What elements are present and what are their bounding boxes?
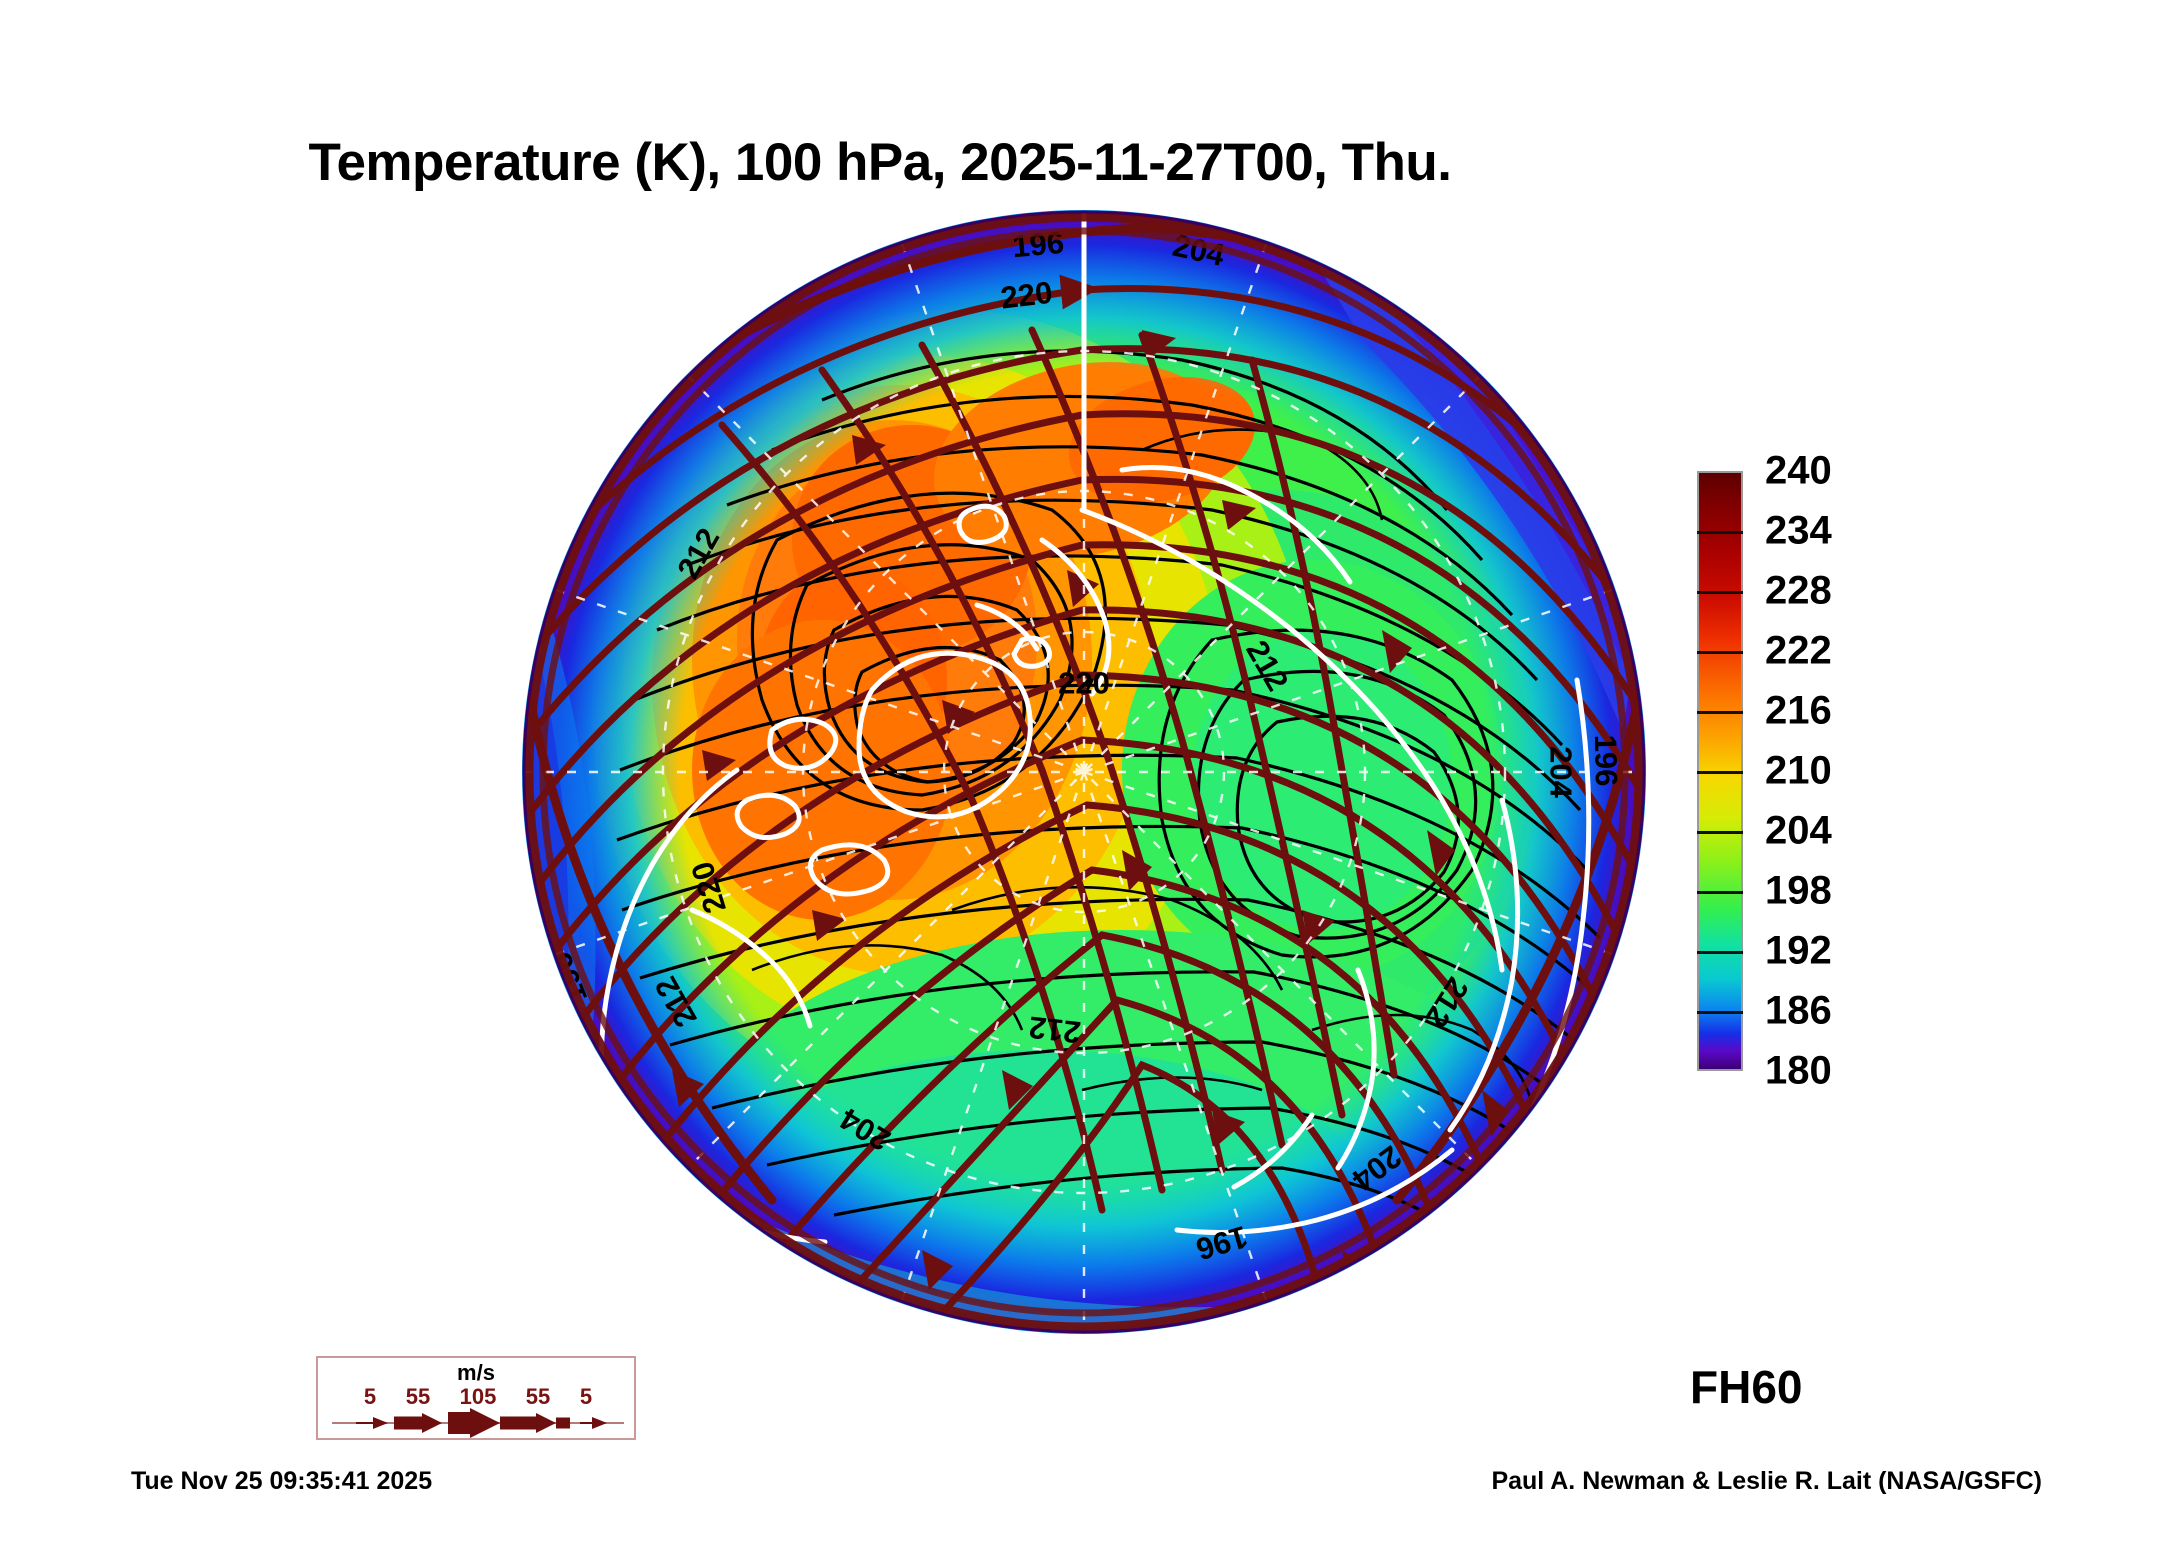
forecast-hour-label: FH60	[1690, 1360, 1802, 1414]
colorbar-tick	[1697, 771, 1743, 774]
colorbar-tick-label: 228	[1765, 569, 1832, 614]
colorbar	[1697, 471, 1743, 1071]
map-svg: 1961882042201962122202122041962201962122…	[522, 210, 1646, 1334]
globe-disk: 1961882042201962122202122041962201962122…	[522, 210, 1646, 1334]
wind-legend-unit-label: m/s	[318, 1360, 634, 1386]
colorbar-tick-label: 216	[1765, 689, 1832, 734]
colorbar-tick-label: 180	[1765, 1049, 1832, 1094]
colorbar-tick	[1697, 531, 1743, 534]
map-contents: 1961882042201962122202122041962201962122…	[522, 210, 1646, 1334]
colorbar-tick	[1697, 891, 1743, 894]
wind-legend-value: 105	[460, 1384, 497, 1410]
footer-credit: Paul A. Newman & Leslie R. Lait (NASA/GS…	[1491, 1467, 2042, 1496]
wind-legend-value: 55	[526, 1384, 550, 1410]
colorbar-tick-label: 240	[1765, 449, 1832, 494]
colorbar-tick-label: 222	[1765, 629, 1832, 674]
colorbar-tick	[1697, 1011, 1743, 1014]
polar-map[interactable]: 1961882042201962122202122041962201962122…	[522, 210, 1646, 1334]
contour-label: 220	[999, 275, 1055, 316]
colorbar-tick-label: 204	[1765, 809, 1832, 854]
page-title: Temperature (K), 100 hPa, 2025-11-27T00,…	[0, 132, 1760, 193]
colorbar-tick-label: 186	[1765, 989, 1832, 1034]
colorbar-tick	[1697, 651, 1743, 654]
wind-speed-legend: m/s 555105555	[316, 1356, 636, 1440]
contour-label: 204	[1543, 746, 1578, 798]
colorbar-tick-label: 192	[1765, 929, 1832, 974]
contour-label: 220	[1058, 665, 1110, 700]
colorbar-tick	[1697, 951, 1743, 954]
colorbar-tick	[1697, 831, 1743, 834]
wind-legend-value: 55	[406, 1384, 430, 1410]
colorbar-tick	[1697, 711, 1743, 714]
wind-legend-value: 5	[580, 1384, 592, 1410]
colorbar-tick-label: 234	[1765, 509, 1832, 554]
contour-label: 212	[1027, 1009, 1082, 1050]
footer-timestamp: Tue Nov 25 09:35:41 2025	[131, 1467, 432, 1496]
wind-legend-value: 5	[364, 1384, 376, 1410]
wind-legend-arrows	[318, 1408, 634, 1438]
colorbar-tick	[1697, 591, 1743, 594]
contour-label: 196	[1588, 734, 1624, 787]
colorbar-tick-label: 198	[1765, 869, 1832, 914]
colorbar-tick-label: 210	[1765, 749, 1832, 794]
